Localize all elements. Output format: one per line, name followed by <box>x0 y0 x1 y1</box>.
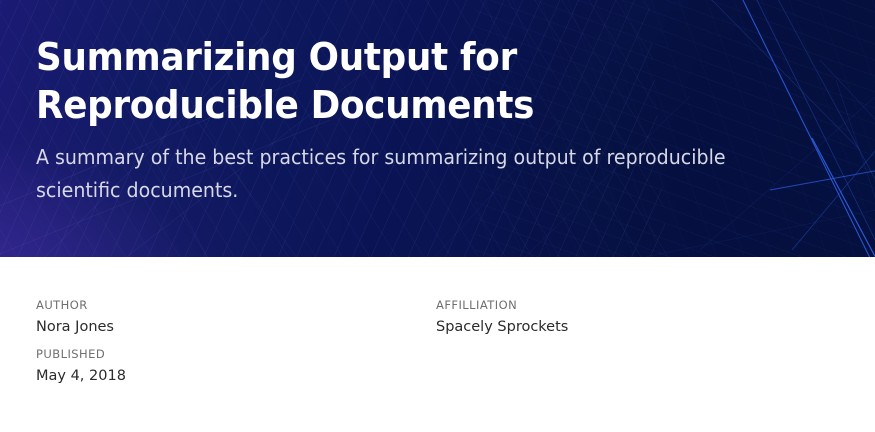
page-title: Summarizing Output for Reproducible Docu… <box>36 33 694 129</box>
author-value: Nora Jones <box>36 316 436 338</box>
published-value: May 4, 2018 <box>36 365 436 387</box>
affiliation-value: Spacely Sprockets <box>436 316 836 338</box>
metadata-affiliation-group: AFFILLIATION Spacely Sprockets <box>436 297 836 338</box>
hero-content: Summarizing Output for Reproducible Docu… <box>0 0 875 207</box>
metadata-author-group: AUTHOR Nora Jones <box>36 297 436 338</box>
document-hero-banner: Summarizing Output for Reproducible Docu… <box>0 0 875 257</box>
affiliation-label: AFFILLIATION <box>436 297 836 314</box>
page-subtitle: A summary of the best practices for summ… <box>36 141 768 207</box>
metadata-column-left: AUTHOR Nora Jones PUBLISHED May 4, 2018 <box>36 297 436 395</box>
published-label: PUBLISHED <box>36 346 436 363</box>
metadata-published-group: PUBLISHED May 4, 2018 <box>36 346 436 387</box>
document-metadata: AUTHOR Nora Jones PUBLISHED May 4, 2018 … <box>0 257 875 395</box>
author-label: AUTHOR <box>36 297 436 314</box>
metadata-column-right: AFFILLIATION Spacely Sprockets <box>436 297 836 395</box>
